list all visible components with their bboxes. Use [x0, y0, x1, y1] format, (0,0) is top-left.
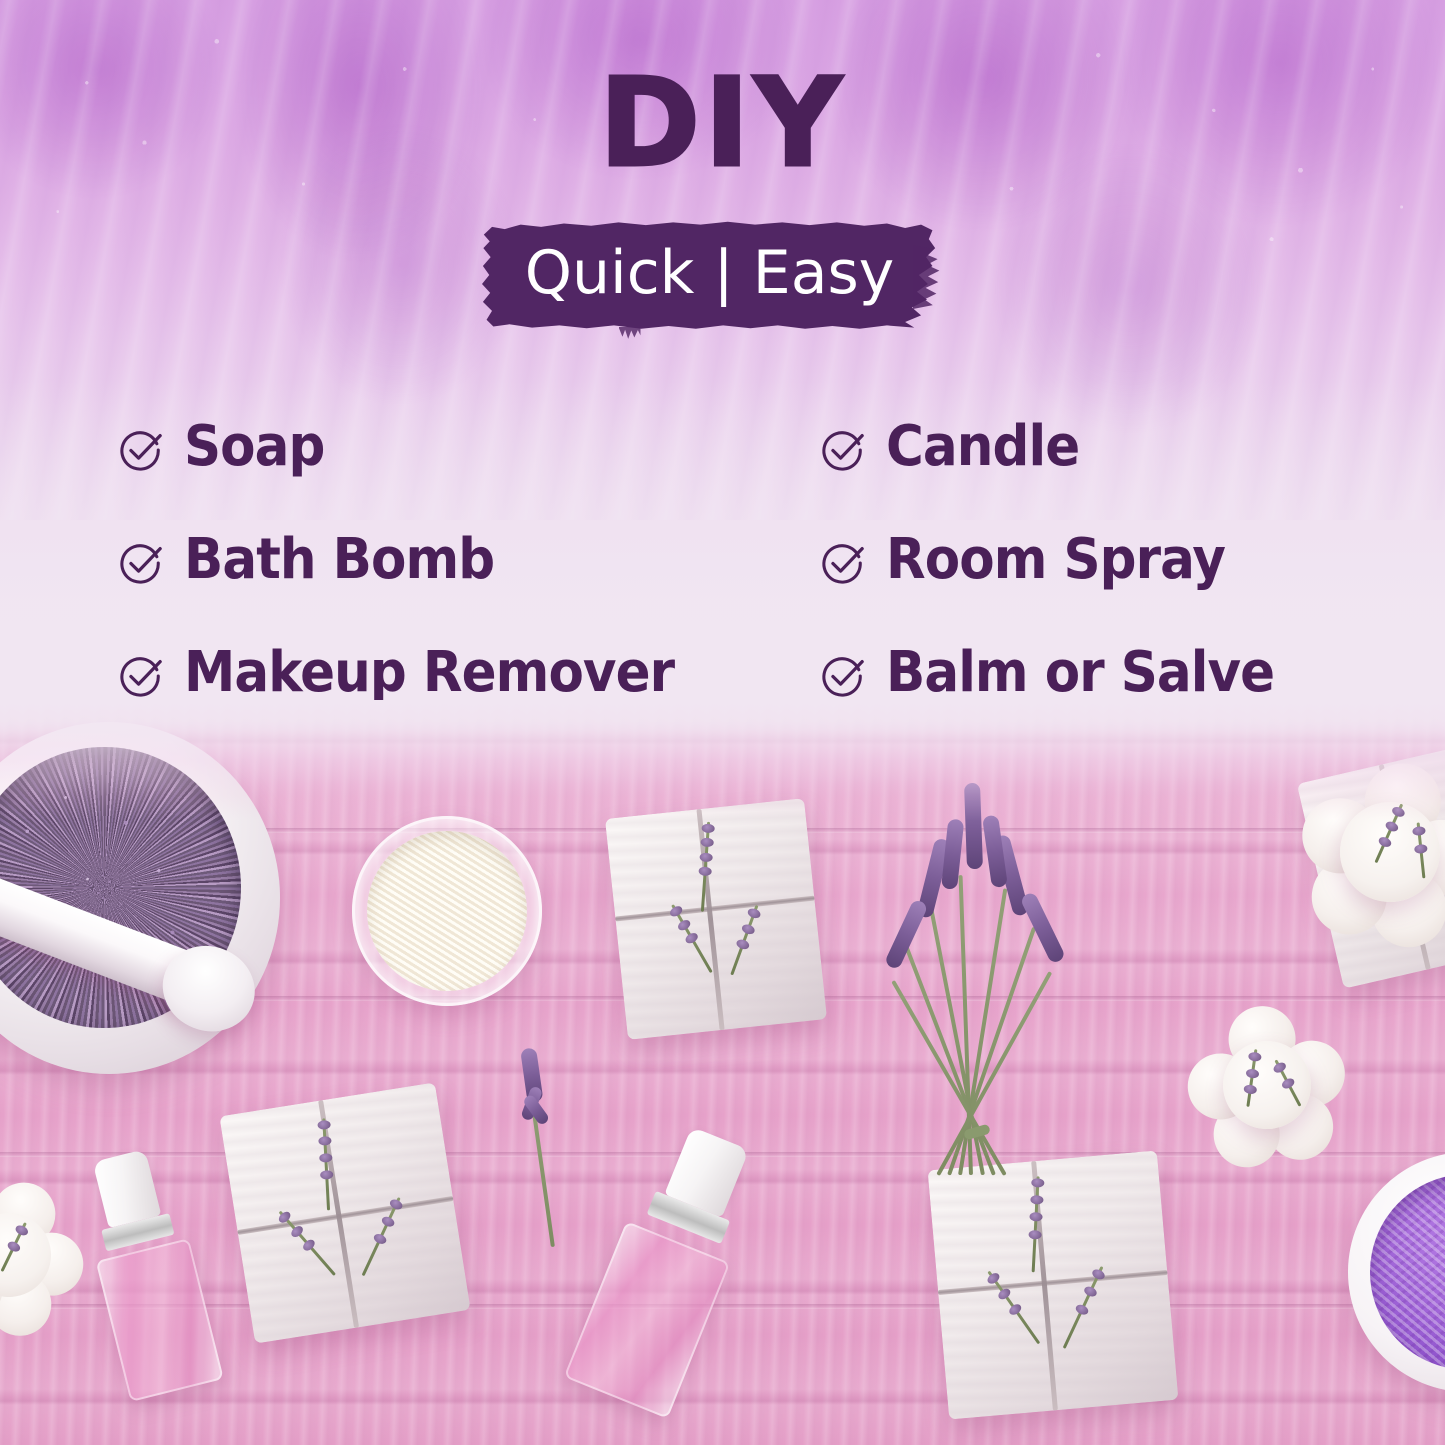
flower-bath-bomb-middle-right	[1178, 996, 1356, 1174]
checklist-item-label: Balm or Salve	[886, 645, 1274, 701]
check-circle-icon	[118, 427, 164, 473]
checklist-item-label: Bath Bomb	[184, 532, 494, 588]
fresh-lavender-bouquet	[835, 775, 1115, 1175]
quick-easy-banner: Quick | Easy	[482, 219, 937, 331]
checklist-item-soap: Soap	[118, 390, 717, 503]
check-circle-icon	[118, 540, 164, 586]
dropper-cap	[93, 1149, 162, 1228]
checklist-item-label: Makeup Remover	[184, 645, 674, 701]
bouquet-stem	[901, 937, 996, 1176]
photo-top-fade	[0, 700, 1445, 820]
page-title: DIY	[0, 62, 1445, 184]
bath-salts-bowl	[1348, 1152, 1445, 1392]
check-circle-icon	[118, 653, 164, 699]
checklist-item-label: Room Spray	[886, 532, 1225, 588]
soap-bar-bottom-left	[219, 1082, 470, 1343]
checklist-item-label: Candle	[886, 419, 1079, 475]
soap-bar-bottom-center-right	[928, 1150, 1179, 1419]
checklist-right-column: Candle Room Spray Balm or Salve	[820, 390, 1308, 729]
lavender-flower-head	[883, 898, 928, 970]
checklist-item-room-spray: Room Spray	[820, 503, 1308, 616]
coconut-flakes	[367, 831, 527, 991]
checklist-item-label: Soap	[184, 419, 324, 475]
diy-checklist: Soap Bath Bomb Makeup Remover	[0, 390, 1445, 730]
coconut-flakes-bowl	[352, 816, 542, 1006]
poster-root: DIY Quick | Easy Soap Bath Bomb	[0, 0, 1445, 1445]
plank-seam	[0, 1304, 1445, 1309]
banner-label: Quick | Easy	[482, 219, 937, 331]
check-circle-icon	[820, 427, 866, 473]
checklist-item-candle: Candle	[820, 390, 1308, 503]
checklist-item-bath-bomb: Bath Bomb	[118, 503, 717, 616]
check-circle-icon	[820, 653, 866, 699]
checklist-left-column: Soap Bath Bomb Makeup Remover	[118, 390, 717, 729]
lavender-diy-photo	[0, 700, 1445, 1445]
soap-bar-top-center	[605, 798, 827, 1040]
check-circle-icon	[820, 540, 866, 586]
